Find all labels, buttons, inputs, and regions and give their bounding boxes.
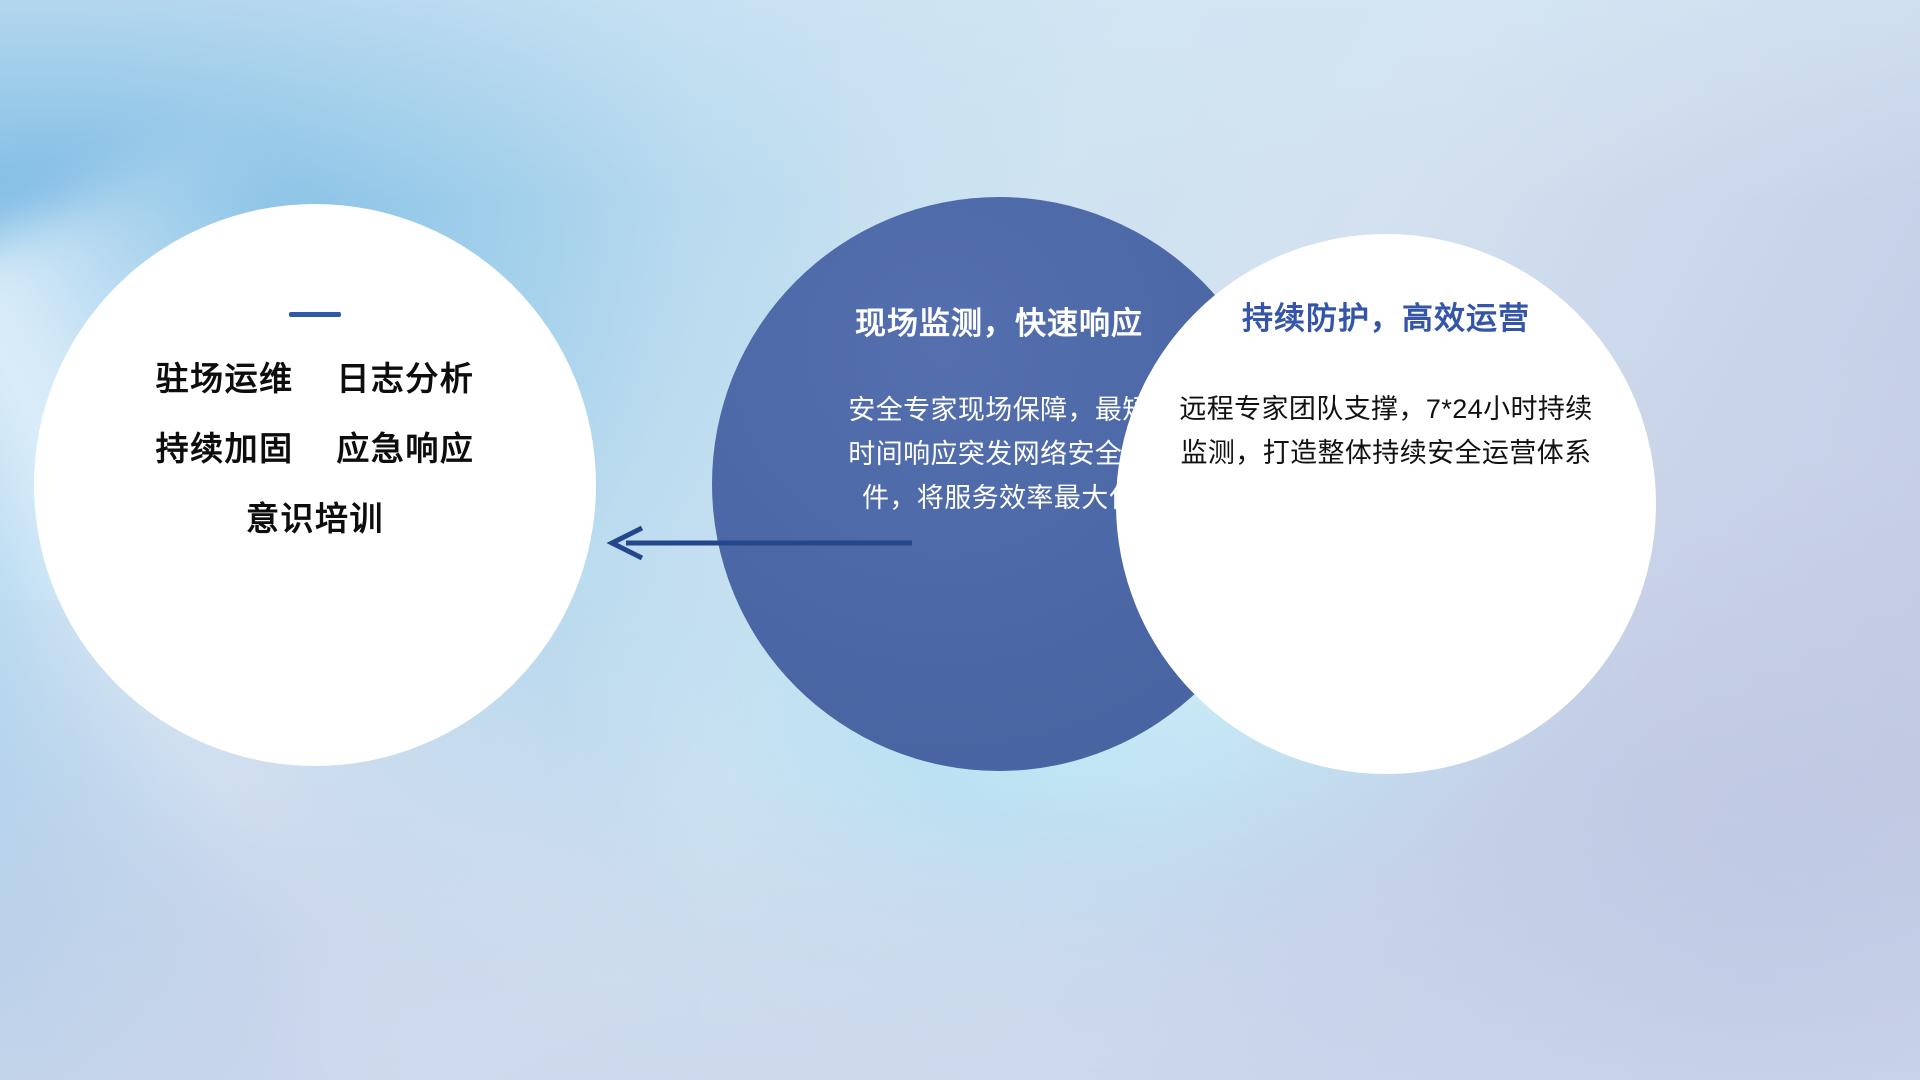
service-tag-row-3: 意识培训	[246, 502, 384, 535]
service-tag-row-2: 持续加固 应急响应	[156, 432, 475, 465]
continuous-protection-body: 远程专家团队支撑，7*24小时持续监测，打造整体持续安全运营体系	[1176, 388, 1596, 475]
continuous-protection-title: 持续防护，高效运营	[1138, 302, 1634, 336]
continuous-protection-circle-content: 持续防护，高效运营 远程专家团队支撑，7*24小时持续监测，打造整体持续安全运营…	[1116, 234, 1656, 774]
accent-divider	[289, 312, 341, 317]
service-tag-row-1: 驻场运维 日志分析	[156, 362, 475, 395]
field-monitoring-body: 安全专家现场保障，最短时间响应突发网络安全事件，将服务效率最大化	[844, 389, 1154, 520]
services-circle-content: 驻场运维 日志分析 持续加固 应急响应 意识培训	[34, 204, 596, 766]
background-bottom-fade	[0, 780, 1920, 1080]
background-top-fade	[0, 0, 1920, 200]
